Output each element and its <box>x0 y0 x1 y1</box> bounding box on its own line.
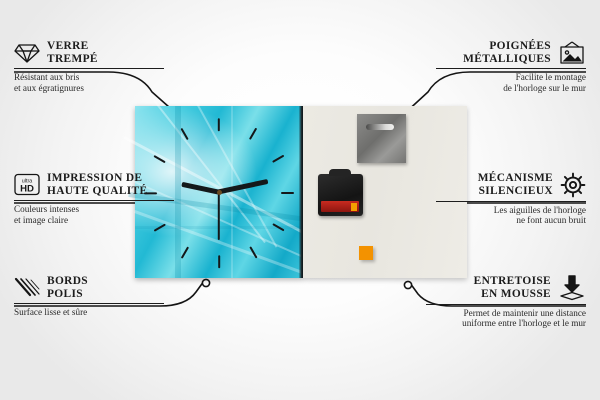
foam-spacer-icon <box>558 275 586 301</box>
wall-frame-icon <box>558 41 586 65</box>
feature-caption: Surface lisse et sûre <box>14 307 164 317</box>
metal-hanger-part <box>357 114 406 163</box>
diamond-icon <box>14 42 40 64</box>
clock-second-hand <box>218 190 220 240</box>
feature-entretoise-en-mousse: ENTRETOISE EN MOUSSE Permet de maintenir… <box>426 275 586 329</box>
polished-edges-icon <box>14 277 40 298</box>
feature-divider <box>14 68 164 69</box>
clock-tick <box>218 118 220 131</box>
feature-caption: Permet de maintenir une distance uniform… <box>426 308 586 329</box>
ultra-hd-icon: ultra HD <box>14 173 40 196</box>
feature-divider <box>14 303 164 304</box>
feature-caption: Facilite le montage de l'horloge sur le … <box>436 72 586 93</box>
clock-tick <box>249 246 258 258</box>
feature-caption: Résistant aux bris et aux égratignures <box>14 72 164 93</box>
foam-spacer-part <box>359 246 373 260</box>
feature-divider <box>14 200 174 201</box>
clock-tick <box>281 192 294 194</box>
quartz-movement-part <box>318 174 363 216</box>
clock-minute-hand <box>216 179 268 195</box>
battery <box>321 201 359 212</box>
movement-hook <box>329 169 351 176</box>
feature-title: MÉCANISME SILENCIEUX <box>478 172 553 197</box>
connector-dot-entretoise <box>404 281 411 288</box>
gear-icon <box>560 172 586 198</box>
connector-dot-bords-polis <box>202 279 209 286</box>
feature-title: ENTRETOISE EN MOUSSE <box>474 275 551 300</box>
feature-bords-polis: BORDS POLIS Surface lisse et sûre <box>14 275 164 318</box>
feature-title: VERRE TREMPÉ <box>47 40 98 65</box>
feature-divider <box>436 201 586 202</box>
clock-tick <box>249 128 258 140</box>
product-image <box>135 106 467 278</box>
feature-divider <box>436 68 586 69</box>
infographic-canvas: VERRE TREMPÉ Résistant aux bris et aux é… <box>0 0 600 400</box>
clock-tick <box>180 128 189 140</box>
feature-poignees-metalliques: POIGNÉES MÉTALLIQUES Facilite le montage… <box>436 40 586 93</box>
clock-tick <box>153 155 165 164</box>
clock-tick <box>272 155 284 164</box>
feature-title: IMPRESSION DE HAUTE QUALITÉ <box>47 172 147 197</box>
clock-tick <box>272 223 284 232</box>
feature-verre-trempe: VERRE TREMPÉ Résistant aux bris et aux é… <box>14 40 164 93</box>
feature-mecanisme-silencieux: MÉCANISME SILENCIEUX Les aiguilles de l'… <box>436 172 586 226</box>
svg-text:HD: HD <box>20 183 34 194</box>
feature-caption: Couleurs intenses et image claire <box>14 204 174 225</box>
feature-caption: Les aiguilles de l'horloge ne font aucun… <box>436 205 586 226</box>
clock-hour-hand <box>181 181 221 195</box>
clock-tick <box>218 255 220 268</box>
feature-title: BORDS POLIS <box>47 275 88 300</box>
feature-divider <box>426 304 586 305</box>
feature-impression-haute-qualite: ultra HD IMPRESSION DE HAUTE QUALITÉ Cou… <box>14 172 174 225</box>
clock-tick <box>180 246 189 258</box>
feature-title: POIGNÉES MÉTALLIQUES <box>463 40 551 65</box>
hanger-slot <box>366 124 394 130</box>
clock-center-pin <box>217 190 222 195</box>
